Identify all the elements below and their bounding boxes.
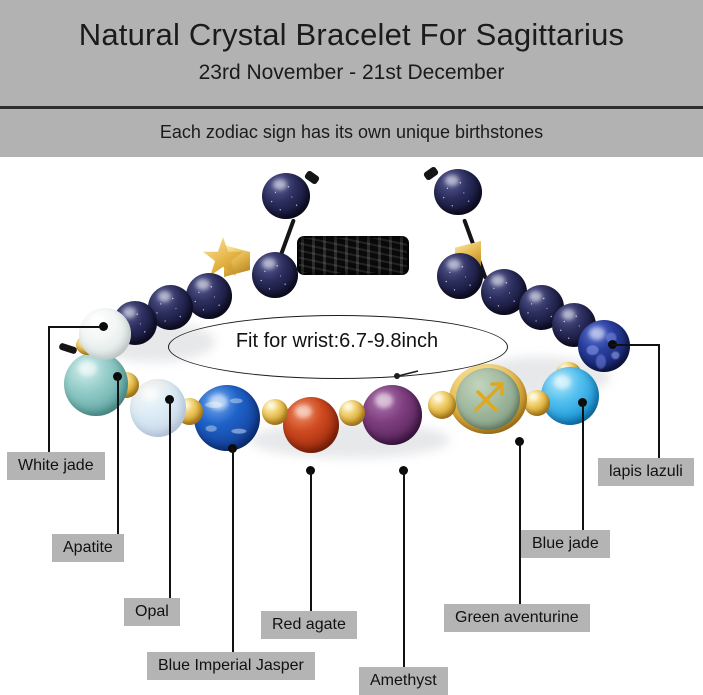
tagline-text: Each zodiac sign has its own unique birt… (0, 120, 703, 144)
label-amethyst: Amethyst (359, 667, 448, 695)
label-opal: Opal (124, 598, 180, 626)
label-blue-jade: Blue jade (521, 530, 610, 558)
fit-for-wrist-text: Fit for wrist:6.7-9.8inch (168, 330, 506, 353)
label-red-agate: Red agate (261, 611, 357, 639)
leader-line-amethyst (403, 470, 405, 667)
blue-jade-bead (541, 367, 599, 425)
header-band-top (0, 0, 703, 106)
goldstone-bead (186, 273, 232, 319)
bead-shadow (250, 422, 450, 458)
sagittarius-arrow-icon (456, 368, 520, 430)
lapis-matrix-texture (578, 320, 630, 372)
macrame-knot (297, 236, 409, 275)
gold-spacer-bead (428, 391, 456, 419)
leader-line-opal (169, 399, 171, 598)
goldstone-bead (252, 252, 298, 298)
leader-line-apatite (117, 376, 119, 534)
label-lapis-lazuli: lapis lazuli (598, 458, 694, 486)
white-jade-bead (79, 308, 131, 360)
blue-imperial-jasper-bead (194, 385, 260, 451)
label-blue-imperial-jasper: Blue Imperial Jasper (147, 652, 315, 680)
lapis-lazuli-bead (578, 320, 630, 372)
goldstone-bead-end-left (262, 173, 310, 219)
cord-segment-left (58, 342, 77, 354)
leader-line-lapis-lazuli (612, 344, 660, 346)
gold-spacer-bead (524, 390, 550, 416)
goldstone-bead (437, 253, 483, 299)
date-range-text: 23rd November - 21st December (0, 60, 703, 86)
leader-line-green-aventurine (519, 441, 521, 604)
leader-line-red-agate (310, 470, 312, 611)
label-white-jade: White jade (7, 452, 105, 480)
amethyst-bead (362, 385, 422, 445)
jasper-matrix-texture (194, 385, 260, 451)
red-agate-bead (283, 397, 339, 453)
leader-line-blue-jade (582, 402, 584, 530)
infographic-root: Natural Crystal Bracelet For Sagittarius… (0, 0, 703, 695)
gold-spacer-bead (262, 399, 288, 425)
page-title: Natural Crystal Bracelet For Sagittarius (0, 17, 703, 53)
leader-line-white-jade (48, 326, 101, 328)
label-green-aventurine: Green aventurine (444, 604, 590, 632)
leader-line-white-jade (48, 326, 50, 453)
gold-spacer-bead (339, 400, 365, 426)
goldstone-bead-end-right (434, 169, 482, 215)
label-apatite: Apatite (52, 534, 124, 562)
leader-line-blue-imperial-jasper (232, 448, 234, 652)
leader-line-lapis-lazuli (658, 344, 660, 458)
green-aventurine-bead (456, 368, 520, 430)
